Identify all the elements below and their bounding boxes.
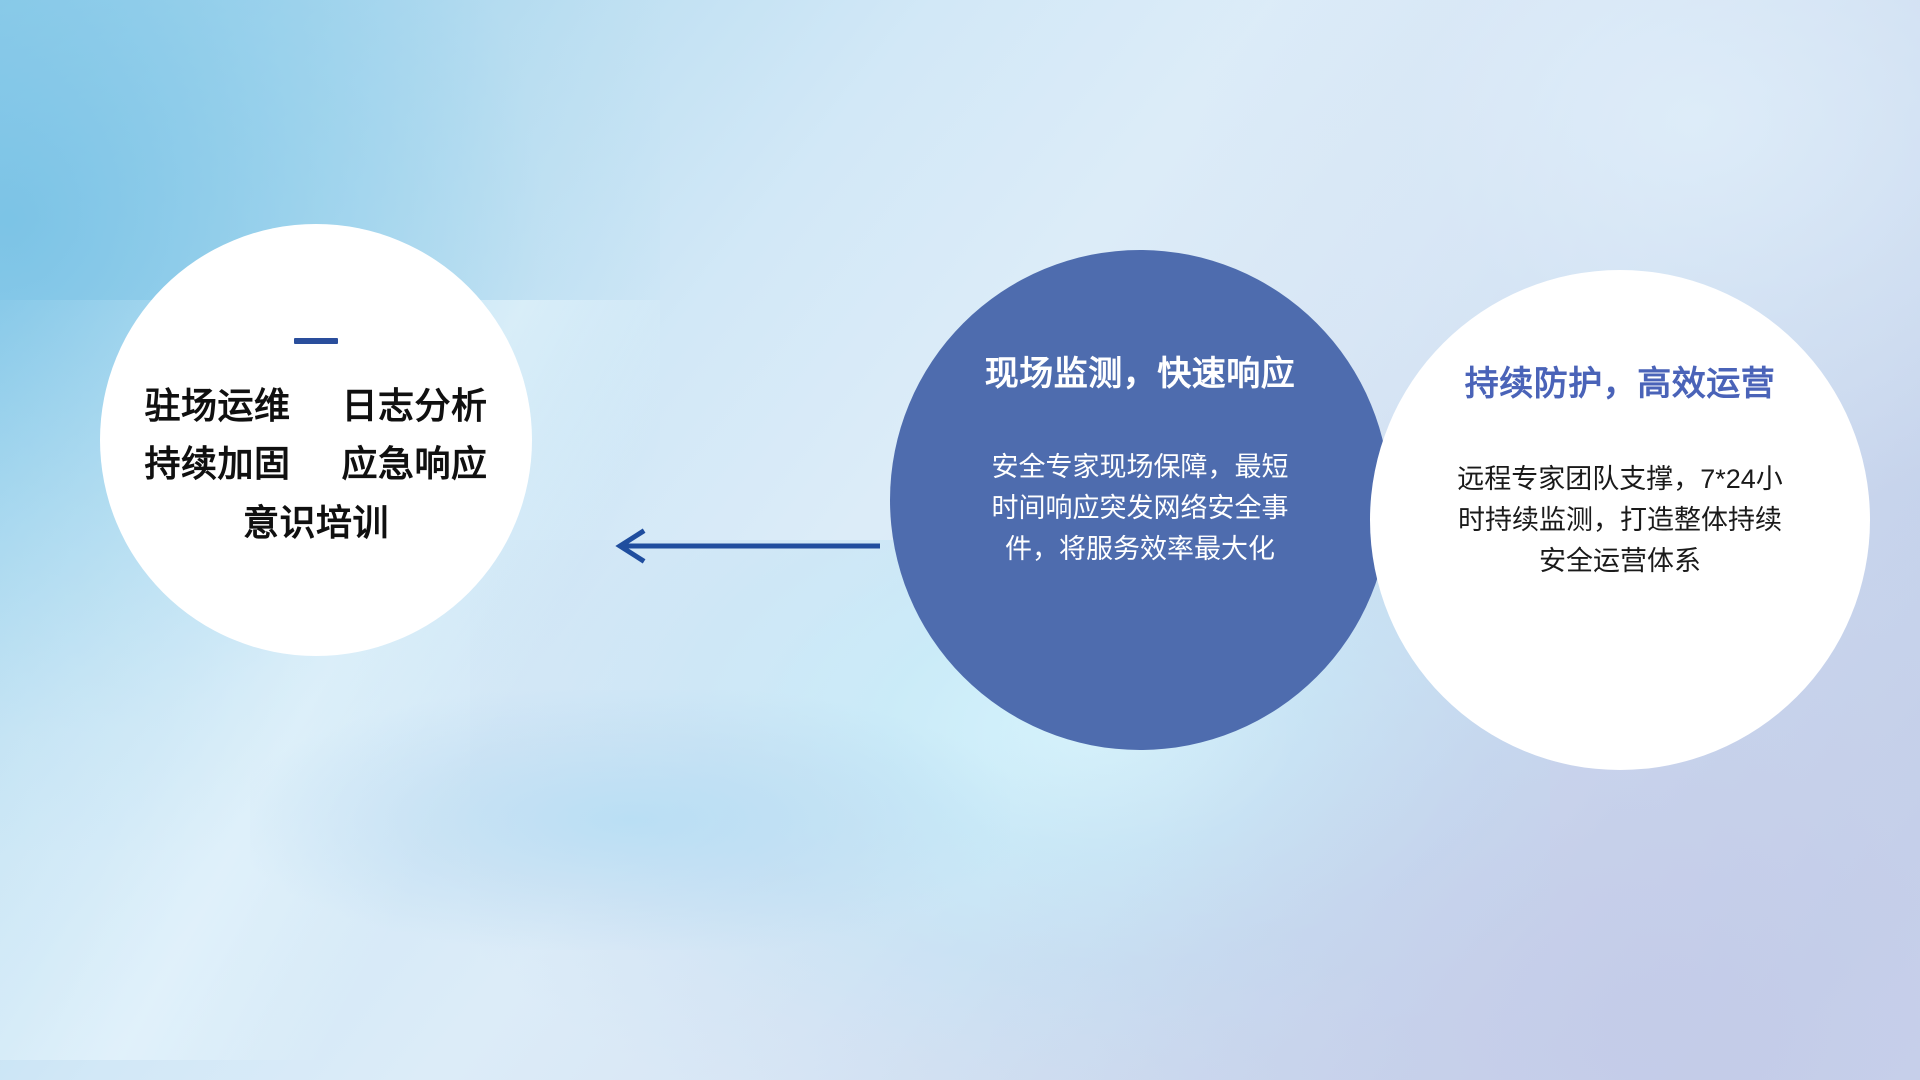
capability-tag-rizhifenxi: 日志分析: [342, 385, 488, 426]
capability-row-3: 意识培训: [243, 503, 389, 543]
capability-card-left[interactable]: 驻场运维 日志分析 持续加固 应急响应 意识培训: [100, 224, 532, 656]
capability-tag-chixujiagu: 持续加固: [144, 443, 290, 484]
flow-arrow-left-icon: [580, 500, 900, 596]
capability-card-right[interactable]: 持续防护，高效运营 远程专家团队支撑，7*24小时持续监测，打造整体持续安全运营…: [1370, 270, 1870, 770]
capability-tag-yingjixiangying: 应急响应: [342, 443, 488, 484]
middle-card-body: 安全专家现场保障，最短时间响应突发网络安全事件，将服务效率最大化: [980, 447, 1300, 570]
capability-row-1: 驻场运维 日志分析: [144, 386, 487, 426]
divider-dash: [294, 338, 338, 344]
right-card-title: 持续防护，高效运营: [1465, 356, 1776, 405]
capability-list: 驻场运维 日志分析 持续加固 应急响应 意识培训: [144, 386, 487, 543]
capability-tag-zhuchangyunwei: 驻场运维: [144, 385, 290, 426]
right-card-body: 远程专家团队支撑，7*24小时持续监测，打造整体持续安全运营体系: [1445, 459, 1795, 582]
background-glow-cyan-secondary: [250, 690, 1010, 950]
capability-card-middle[interactable]: 现场监测，快速响应 安全专家现场保障，最短时间响应突发网络安全事件，将服务效率最…: [890, 250, 1390, 750]
middle-card-title: 现场监测，快速响应: [985, 346, 1296, 395]
slide-canvas: 驻场运维 日志分析 持续加固 应急响应 意识培训 现场监测，快速响应 安全专家现…: [0, 0, 1920, 1080]
capability-row-2: 持续加固 应急响应: [144, 444, 487, 484]
capability-tag-yishipeixun: 意识培训: [243, 502, 389, 543]
